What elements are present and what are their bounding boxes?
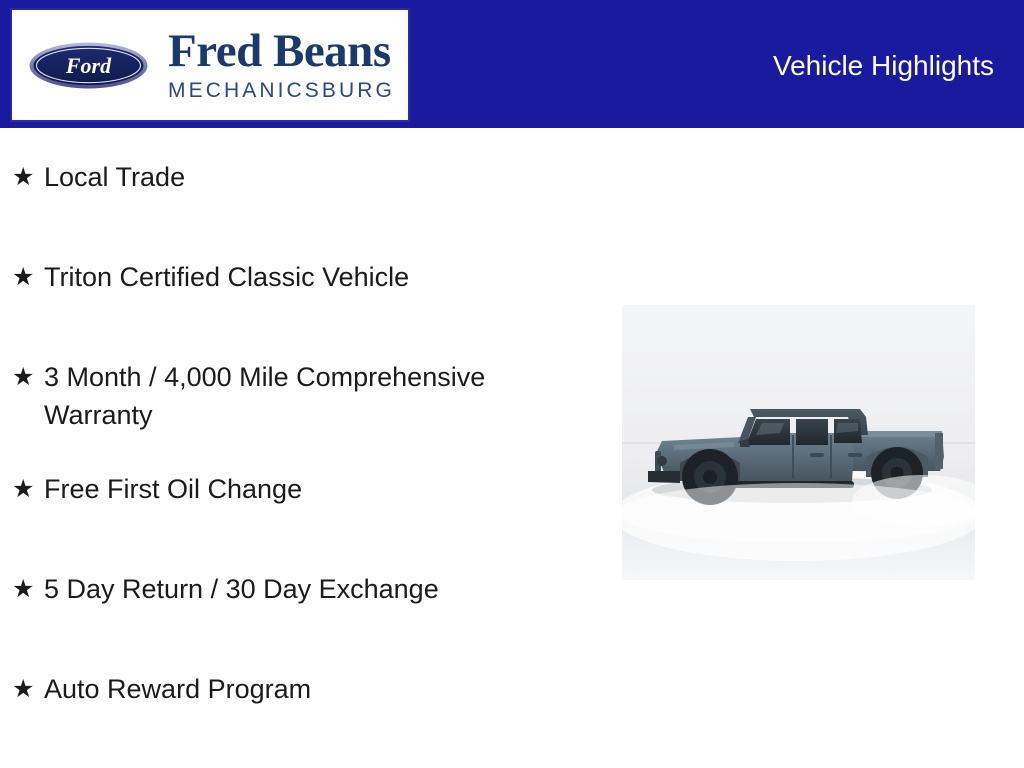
list-item-label: Triton Certified Classic Vehicle	[44, 258, 544, 296]
page-title: Vehicle Highlights	[773, 50, 994, 82]
star-icon: ★	[12, 258, 44, 296]
svg-text:Ford: Ford	[65, 53, 112, 78]
list-item-label: Auto Reward Program	[44, 670, 544, 708]
list-item: ★ Triton Certified Classic Vehicle	[0, 258, 600, 322]
list-item: ★ 3 Month / 4,000 Mile Comprehensive War…	[0, 358, 600, 434]
list-item: ★ 5 Day Return / 30 Day Exchange	[0, 570, 600, 634]
list-item-label: 5 Day Return / 30 Day Exchange	[44, 570, 544, 608]
list-item-label: Local Trade	[44, 158, 544, 196]
list-item-label: Free First Oil Change	[44, 470, 544, 508]
header-bar: Ford Fred Beans MECHANICSBURG Vehicle Hi…	[0, 0, 1024, 128]
star-icon: ★	[12, 158, 44, 196]
list-item: ★ Free First Oil Change	[0, 470, 600, 534]
list-item: ★ Auto Reward Program	[0, 670, 600, 734]
star-icon: ★	[12, 570, 44, 608]
ford-oval-icon: Ford	[29, 42, 148, 89]
highlights-list: ★ Local Trade ★ Triton Certified Classic…	[0, 128, 600, 734]
vehicle-highlights-slide: Ford Fred Beans MECHANICSBURG Vehicle Hi…	[0, 0, 1024, 768]
dealer-logo[interactable]: Ford Fred Beans MECHANICSBURG	[10, 8, 410, 122]
list-item: ★ Local Trade	[0, 158, 600, 222]
list-item-label: 3 Month / 4,000 Mile Comprehensive Warra…	[44, 358, 544, 434]
star-icon: ★	[12, 670, 44, 708]
dealer-city: MECHANICSBURG	[168, 78, 408, 104]
star-icon: ★	[12, 470, 44, 508]
dealer-name: Fred Beans	[168, 27, 408, 75]
star-icon: ★	[12, 358, 44, 396]
vehicle-photo	[622, 305, 975, 580]
dealer-wordmark: Fred Beans MECHANICSBURG	[168, 27, 408, 104]
